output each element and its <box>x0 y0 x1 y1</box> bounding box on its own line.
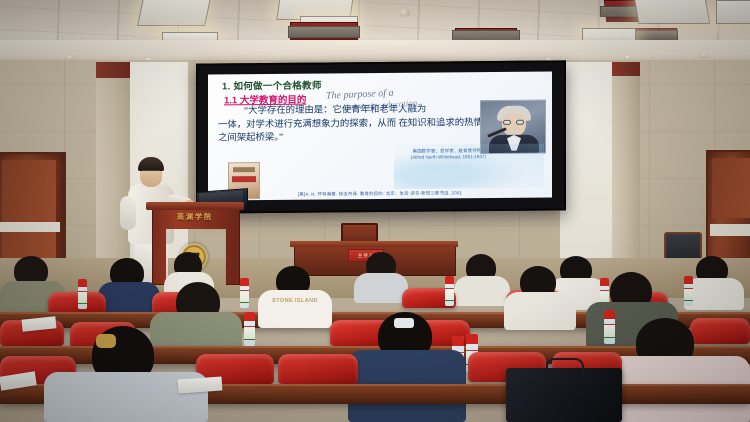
water-bottle[interactable] <box>445 276 454 306</box>
bottle-label <box>78 291 87 303</box>
water-bottle[interactable] <box>684 276 693 306</box>
briefcase[interactable] <box>506 368 622 422</box>
book-title-band <box>233 167 255 172</box>
seat[interactable] <box>48 292 106 314</box>
door-band <box>0 222 60 232</box>
portrait-eye-left <box>503 120 511 125</box>
podium-top <box>146 202 244 210</box>
projection-screen: 1. 如何做一个合格教师 1.1 大学教育的目的 The purpose of … <box>196 60 566 213</box>
speaker-glasses <box>142 170 160 176</box>
bottle-cap <box>452 336 464 346</box>
ceiling-panel-light <box>716 0 750 24</box>
bottle-cap <box>78 279 87 287</box>
attendee-torso <box>684 278 744 310</box>
attendee-torso <box>454 276 510 306</box>
bottle-cap <box>466 334 478 344</box>
hair-clip <box>394 318 414 328</box>
attendee-torso <box>98 282 160 316</box>
water-bottle[interactable] <box>244 312 255 346</box>
seat[interactable] <box>278 354 358 384</box>
water-bottle[interactable] <box>240 278 249 308</box>
ceiling-vent <box>288 26 360 38</box>
bottle-cap <box>445 276 454 284</box>
wall-pillar <box>96 62 130 262</box>
bottle-label <box>445 288 454 300</box>
cabinet-panel <box>712 158 750 218</box>
lecture-hall-screenshot: 1. 如何做一个合格教师 1.1 大学教育的目的 The purpose of … <box>0 0 750 422</box>
slide-body-line-1: “大学存在的理由是：它使青年和老年人融为 <box>218 103 486 119</box>
front-table-top <box>290 241 458 247</box>
slide-content: 1. 如何做一个合格教师 1.1 大学教育的目的 The purpose of … <box>208 72 552 201</box>
ceiling-panel-light <box>137 0 211 26</box>
speaker-left-arm <box>120 196 136 230</box>
bottle-cap <box>244 312 255 321</box>
hair-clip <box>96 334 116 348</box>
slide-body: “大学存在的理由是：它使青年和老年人融为 一体，对学术进行充满想象力的探索，从而… <box>218 103 486 146</box>
bottle-label <box>240 290 249 302</box>
water-bottle[interactable] <box>604 310 615 344</box>
pillar-cap <box>96 62 130 78</box>
portrait-eye-right <box>516 120 524 125</box>
bottle-label <box>600 290 609 302</box>
bottle-cap <box>600 278 609 286</box>
water-bottle[interactable] <box>78 279 87 309</box>
bottle-label <box>684 288 693 300</box>
bottle-label <box>244 326 255 340</box>
ceiling-panel-light <box>634 0 711 24</box>
wall-white-panel <box>560 62 618 262</box>
bottle-cap <box>604 310 615 319</box>
pillar-cap <box>612 62 640 76</box>
attendee-torso <box>504 292 576 330</box>
attendee-torso <box>258 290 332 328</box>
wall-pillar <box>612 62 640 262</box>
bottle-label <box>604 324 615 338</box>
bottle-cap <box>240 278 249 286</box>
attendee-shirt-text: STONE ISLAND <box>262 298 328 304</box>
book-accent-band <box>232 176 256 182</box>
slide-title: 1. 如何做一个合格教师 <box>222 78 322 93</box>
smoke-detector <box>399 9 410 17</box>
cabinet-band <box>710 224 750 236</box>
seat[interactable] <box>690 318 750 344</box>
briefcase-handle <box>546 358 584 374</box>
slide-body-line-2: 一体，对学术进行充满想象力的探索，从而 <box>218 118 396 130</box>
bottle-cap <box>684 276 693 284</box>
door-panel <box>2 160 56 264</box>
slide-watermark-graphic <box>394 144 544 189</box>
attendee-torso <box>354 273 408 303</box>
podium-institution-text: 高渊学院 <box>160 212 230 222</box>
